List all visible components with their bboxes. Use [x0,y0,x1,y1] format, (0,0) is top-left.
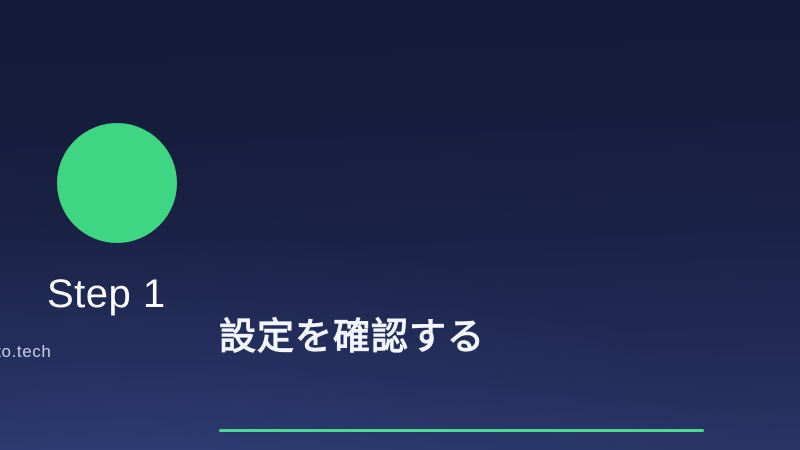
step-label: Step 1 [47,271,800,317]
title-divider [219,429,704,432]
presentation-slide: Step 1 設定を確認する 確認ポイント 手順の詳細 注意事項 minto.t… [0,0,800,450]
step-badge-circle [57,123,177,243]
footer-branding: minto.tech [0,341,767,363]
